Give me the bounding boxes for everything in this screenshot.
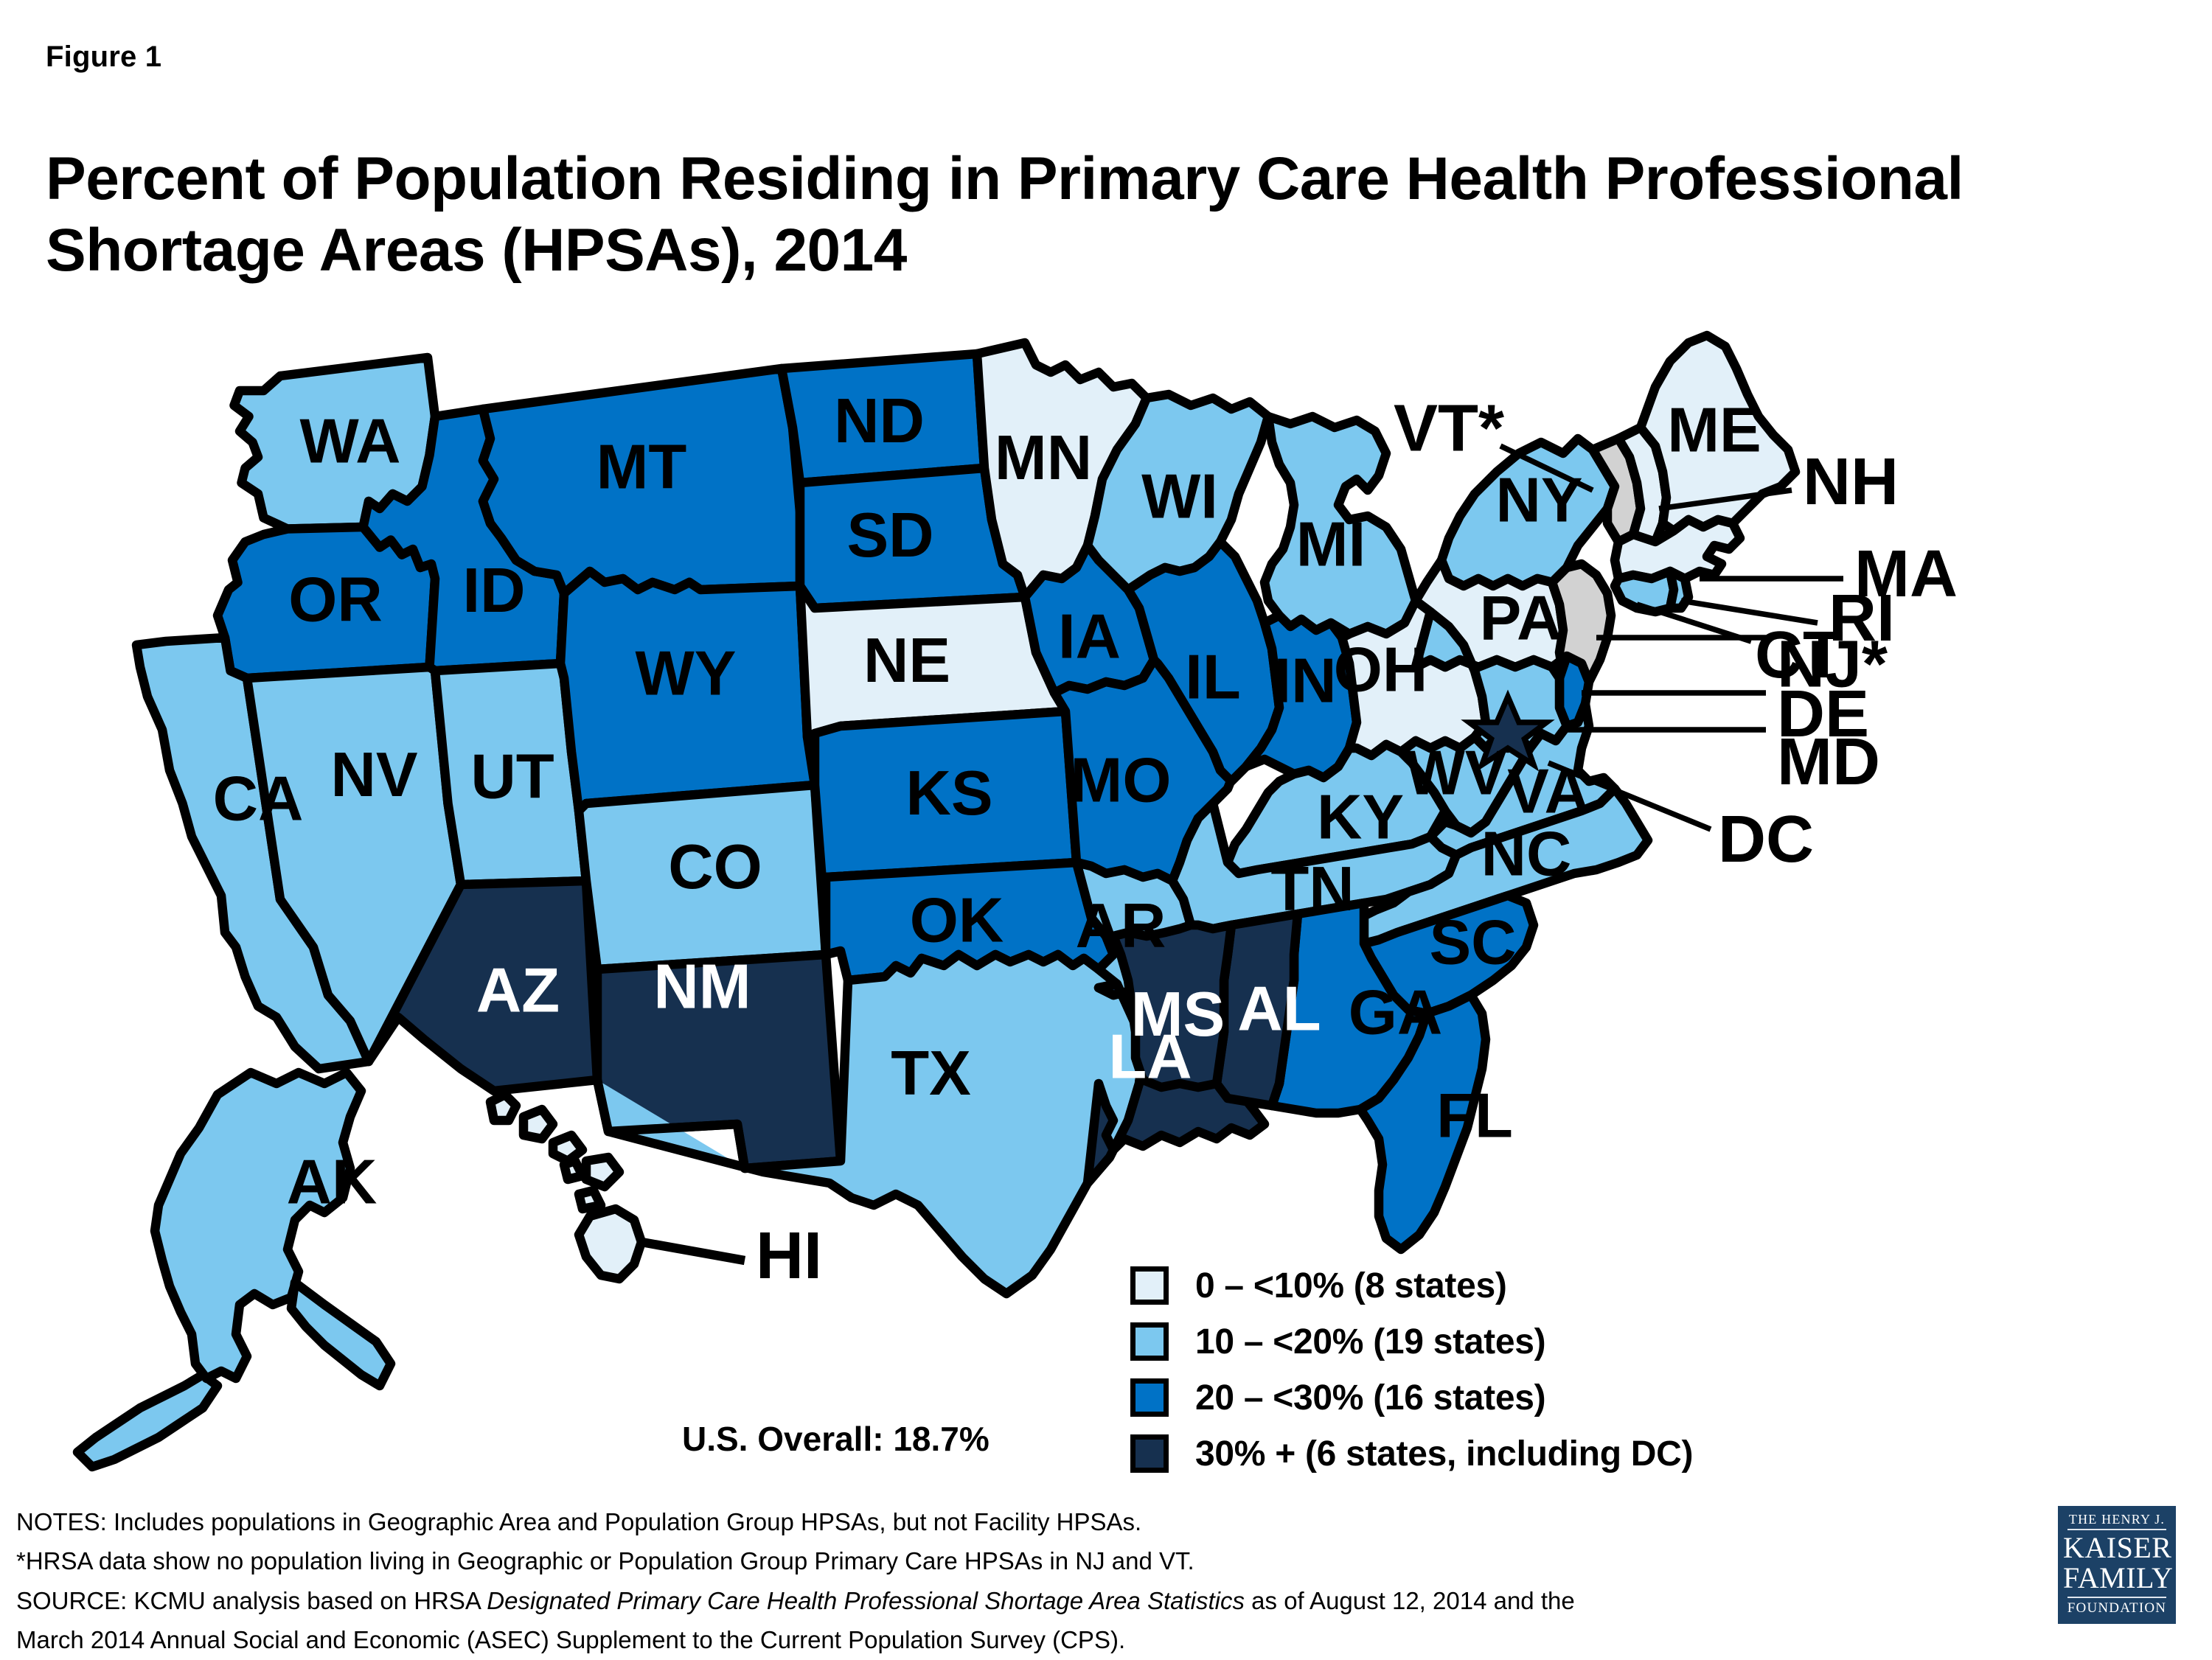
- label-NY: NY: [1495, 465, 1582, 535]
- logo-line-1: THE HENRY J.: [2063, 1513, 2171, 1526]
- legend-swatch-1: [1130, 1322, 1169, 1361]
- logo-line-2: KAISER: [2063, 1533, 2171, 1563]
- label-WY: WY: [636, 638, 737, 708]
- label-TX: TX: [891, 1039, 971, 1109]
- label-AZ: AZ: [476, 955, 560, 1025]
- label-DC: DC: [1718, 803, 1814, 876]
- label-MT: MT: [597, 432, 687, 502]
- label-WV: WV: [1406, 738, 1507, 808]
- kaiser-family-foundation-logo: THE HENRY J. KAISER FAMILY FOUNDATION: [2058, 1506, 2176, 1624]
- label-AL: AL: [1237, 974, 1321, 1044]
- label-NH: NH: [1803, 445, 1899, 519]
- legend-item-2[interactable]: 20 – <30% (16 states): [1130, 1370, 1693, 1426]
- label-SD: SD: [846, 501, 933, 571]
- logo-line-3: FAMILY: [2063, 1563, 2171, 1594]
- label-FL: FL: [1436, 1081, 1513, 1151]
- legend-swatch-0: [1130, 1266, 1169, 1305]
- label-TN: TN: [1270, 854, 1354, 924]
- label-ID: ID: [463, 556, 526, 626]
- legend-item-3[interactable]: 30% + (6 states, including DC): [1130, 1426, 1693, 1482]
- source-line-2: March 2014 Annual Social and Economic (A…: [16, 1620, 2007, 1659]
- legend-label-2: 20 – <30% (16 states): [1195, 1378, 1545, 1418]
- label-MS: MS: [1131, 980, 1225, 1050]
- us-overall-value: U.S. Overall: 18.7%: [682, 1419, 990, 1459]
- legend-item-0[interactable]: 0 – <10% (8 states): [1130, 1258, 1693, 1314]
- label-AK: AK: [287, 1147, 378, 1217]
- map-legend: 0 – <10% (8 states) 10 – <20% (19 states…: [1130, 1258, 1693, 1482]
- hawaii-leader: [641, 1242, 745, 1260]
- legend-swatch-3: [1130, 1434, 1169, 1473]
- logo-line-4: FOUNDATION: [2063, 1601, 2171, 1615]
- label-NE: NE: [863, 626, 950, 696]
- notes-line-2: *HRSA data show no population living in …: [16, 1541, 2007, 1580]
- label-SC: SC: [1429, 907, 1516, 977]
- source-prefix: SOURCE: KCMU analysis based on HRSA: [16, 1587, 487, 1614]
- label-UT: UT: [470, 742, 554, 812]
- label-IA: IA: [1058, 601, 1121, 672]
- legend-item-1[interactable]: 10 – <20% (19 states): [1130, 1314, 1693, 1370]
- label-OR: OR: [288, 565, 383, 635]
- label-OH: OH: [1334, 635, 1428, 705]
- legend-swatch-2: [1130, 1378, 1169, 1417]
- label-KS: KS: [905, 758, 992, 829]
- label-MN: MN: [995, 423, 1092, 493]
- label-NV: NV: [330, 740, 417, 810]
- label-IN: IN: [1274, 646, 1337, 716]
- label-ME: ME: [1667, 395, 1761, 465]
- ri-leader: [1681, 601, 1818, 623]
- source-title: Designated Primary Care Health Professio…: [487, 1587, 1245, 1614]
- label-IL: IL: [1185, 642, 1241, 712]
- source-line-1: SOURCE: KCMU analysis based on HRSA Desi…: [16, 1581, 2007, 1620]
- label-NC: NC: [1481, 819, 1572, 889]
- notes-block: NOTES: Includes populations in Geographi…: [16, 1502, 2007, 1660]
- legend-label-1: 10 – <20% (19 states): [1195, 1322, 1545, 1362]
- source-suffix: as of August 12, 2014 and the: [1245, 1587, 1575, 1614]
- label-PA: PA: [1480, 583, 1562, 653]
- label-VA: VA: [1507, 756, 1590, 826]
- label-AR: AR: [1076, 891, 1166, 961]
- label-HI: HI: [756, 1219, 822, 1293]
- label-NM: NM: [653, 952, 751, 1022]
- legend-label-0: 0 – <10% (8 states): [1195, 1266, 1507, 1306]
- label-CA: CA: [213, 764, 304, 834]
- label-VT: VT*: [1394, 391, 1504, 465]
- page-title: Percent of Population Residing in Primar…: [46, 144, 2073, 287]
- label-MD: MD: [1777, 725, 1880, 799]
- label-GA: GA: [1349, 977, 1443, 1047]
- notes-line-1: NOTES: Includes populations in Geographi…: [16, 1502, 2007, 1541]
- label-MI: MI: [1296, 509, 1366, 579]
- logo-rule-top: [2067, 1529, 2166, 1530]
- label-OK: OK: [910, 885, 1004, 955]
- label-CO: CO: [668, 832, 762, 902]
- label-WA: WA: [300, 406, 401, 476]
- label-ND: ND: [834, 386, 925, 456]
- logo-rule-bottom: [2067, 1597, 2166, 1598]
- legend-label-3: 30% + (6 states, including DC): [1195, 1434, 1693, 1474]
- state-AK[interactable]: [77, 1073, 391, 1467]
- label-MO: MO: [1071, 745, 1172, 815]
- figure-number: Figure 1: [46, 41, 161, 74]
- label-WI: WI: [1141, 461, 1218, 531]
- label-KY: KY: [1317, 782, 1404, 852]
